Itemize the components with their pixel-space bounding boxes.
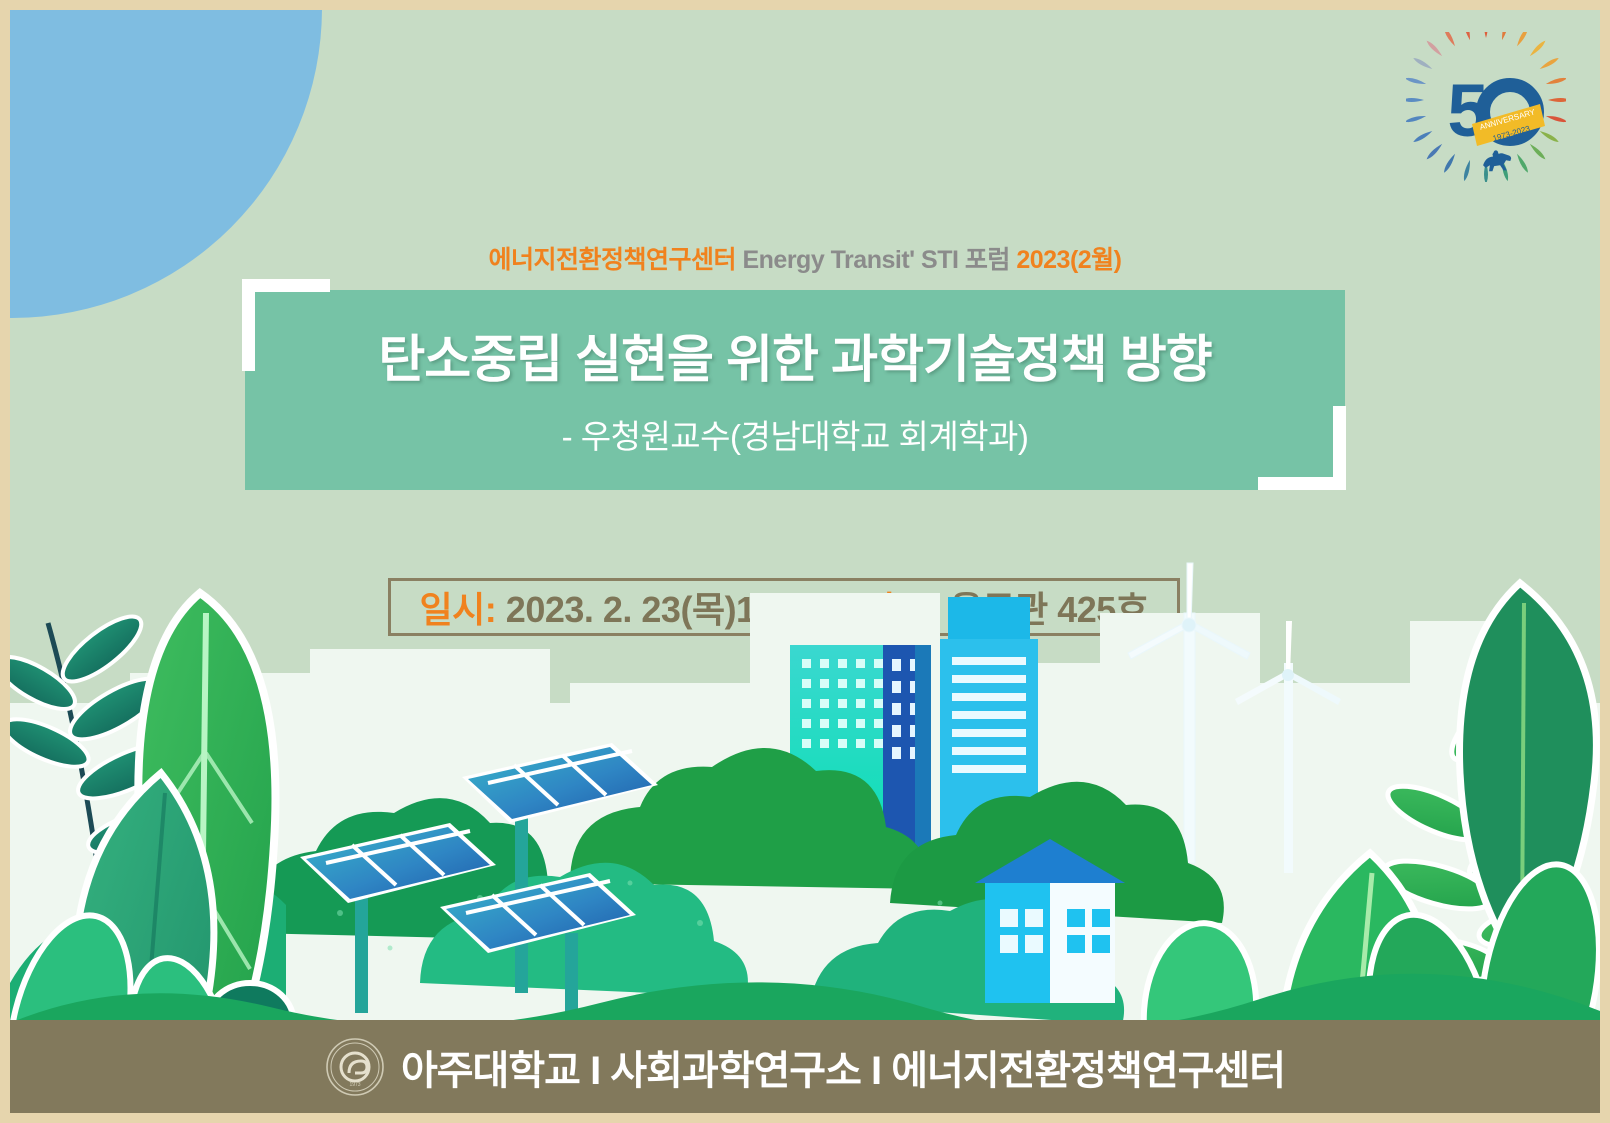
footer-bar: 1973 아주대학교 I 사회과학연구소 I 에너지전환정책연구센터 <box>10 1020 1600 1113</box>
speaker-line: - 우청원교수(경남대학교 회계학과) <box>245 410 1345 458</box>
50th-anniversary-logo: 5 ANNIVERSARY 1973-2023 <box>1406 32 1566 182</box>
page-title: 탄소중립 실현을 위한 과학기술정책 방향 <box>245 318 1345 392</box>
footer-organizations: 아주대학교 I 사회과학연구소 I 에너지전환정책연구센터 <box>401 1038 1285 1096</box>
forum-edition: 2023(2월) <box>1016 246 1121 274</box>
emblem-year-text: 1973 <box>349 1082 360 1088</box>
event-poster: 5 ANNIVERSARY 1973-2023 에너지전환정책연구센터 Ener… <box>0 0 1610 1123</box>
forum-name: Energy Transit' STI 포럼 <box>742 246 1009 274</box>
poster-canvas: 5 ANNIVERSARY 1973-2023 에너지전환정책연구센터 Ener… <box>10 10 1600 1113</box>
bracket-top-left-horizontal <box>242 279 330 292</box>
kicker-line: 에너지전환정책연구센터 Energy Transit' STI 포럼 2023(… <box>10 240 1600 276</box>
ajou-university-emblem: 1973 <box>325 1037 385 1097</box>
center-name: 에너지전환정책연구센터 <box>489 246 737 274</box>
